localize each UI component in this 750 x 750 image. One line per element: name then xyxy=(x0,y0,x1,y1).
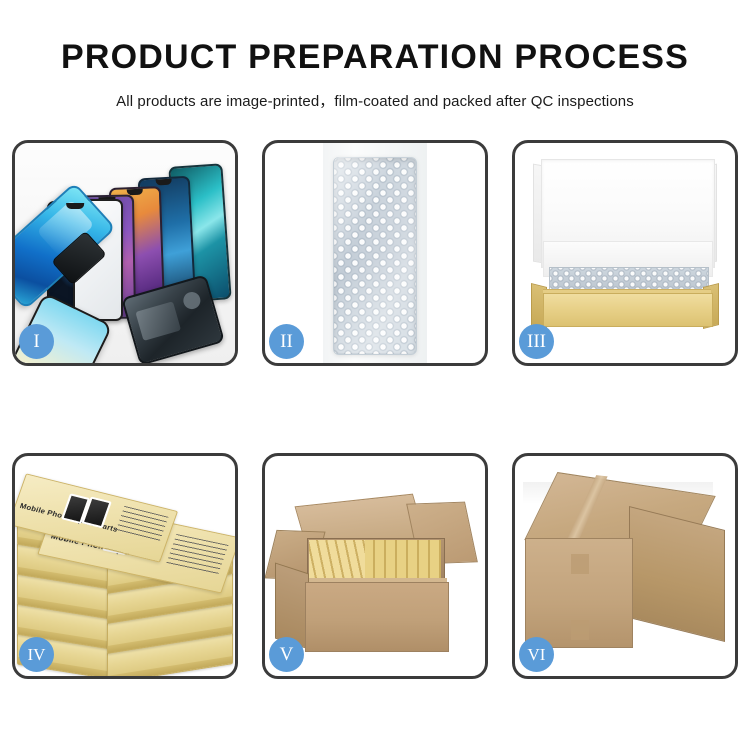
carton-seam-icon xyxy=(571,620,589,640)
step-badge-3: III xyxy=(519,324,554,359)
carton-left-face-icon xyxy=(275,562,309,649)
carton-seam-icon xyxy=(571,554,589,574)
step-panel-4[interactable]: Mobile Phone Spare Parts Mobile Phone Sp… xyxy=(12,453,238,679)
phone-notch-icon xyxy=(66,203,84,209)
carton-front-face-icon xyxy=(305,582,449,652)
carton-right-face-icon xyxy=(629,506,725,642)
step-badge-1: I xyxy=(19,324,54,359)
infographic-page: PRODUCT PREPARATION PROCESS All products… xyxy=(0,0,750,750)
box-print-spec-lines xyxy=(166,534,228,575)
step-badge-4: IV xyxy=(19,637,54,672)
box-print-spec-lines xyxy=(115,506,168,543)
step-panel-2[interactable]: II xyxy=(262,140,488,366)
step-panel-1[interactable]: I xyxy=(12,140,238,366)
step-badge-2: II xyxy=(269,324,304,359)
step-panel-6[interactable]: VI xyxy=(512,453,738,679)
plastic-gloss-overlay xyxy=(334,157,416,353)
step-panel-5[interactable]: V xyxy=(262,453,488,679)
kraft-box-front-icon xyxy=(543,293,713,327)
step-panel-3[interactable]: III xyxy=(512,140,738,366)
step-badge-5: V xyxy=(269,637,304,672)
steps-grid: I II III xyxy=(0,0,750,750)
phone-notch-icon xyxy=(156,179,173,186)
step-badge-6: VI xyxy=(519,637,554,672)
